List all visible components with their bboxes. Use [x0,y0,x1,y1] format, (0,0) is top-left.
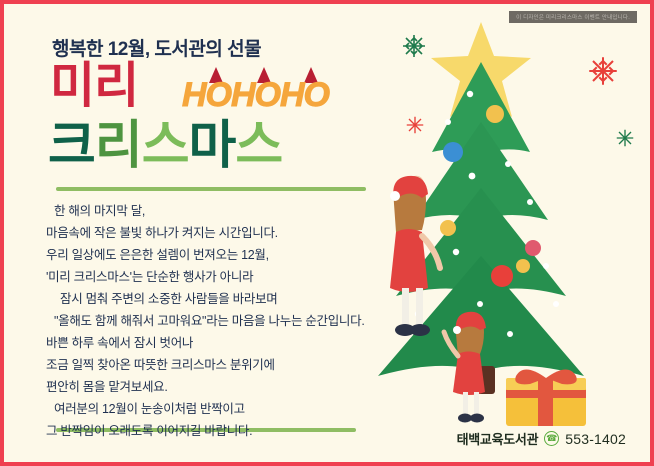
footer-contact: 태백교육도서관 ☎ 553-1402 [457,429,626,448]
snowflake-icon [588,56,618,86]
divider-top [56,187,366,191]
body-line: 여러분의 12월이 눈송이처럼 반짝이고 [46,398,446,420]
body-line: 편안히 몸을 맡겨보세요. [46,376,446,398]
poster-body: 이 디자인은 미리크리스마스 이벤트 안내입니다. [4,4,650,462]
body-line: "올해도 함께 해줘서 고마워요"라는 마음을 나누는 순간입니다. [46,310,446,332]
library-name: 태백교육도서관 [457,429,539,448]
phone-icon: ☎ [544,431,559,446]
body-line: 잠시 멈춰 주변의 소중한 사람들을 바라보며 [46,288,446,310]
title-char: 스 [142,117,189,175]
body-line: 조금 일찍 찾아온 따뜻한 크리스마스 분위기에 [46,354,446,376]
title-char: 크 [48,117,95,175]
gift-box [506,369,586,426]
body-copy: 한 해의 마지막 달, 마음속에 작은 불빛 하나가 켜지는 시간입니다. 우리… [46,200,446,442]
body-line: 우리 일상에도 은은한 설렘이 번져오는 12월, [46,244,446,266]
poster-frame: 이 디자인은 미리크리스마스 이벤트 안내입니다. [0,0,654,466]
body-line: 바쁜 하루 속에서 잠시 벗어나 [46,332,446,354]
body-line: 마음속에 작은 불빛 하나가 켜지는 시간입니다. [46,222,446,244]
snowflake-icon [406,116,424,134]
body-line: '미리 크리스마스'는 단순한 행사가 아니라 [46,266,446,288]
snowflake-icon [616,129,634,147]
title-char: 리 [95,117,142,175]
body-line: 한 해의 마지막 달, [46,200,446,222]
phone-number: 553-1402 [565,431,626,447]
poster-subtitle: 행복한 12월, 도서관의 선물 [52,34,261,61]
snowflake-icon [402,34,426,58]
title-char: 스 [235,117,282,175]
poster-title-green: 크리스마스 [48,120,282,172]
body-line: 그 반짝임이 오래도록 이어지길 바랍니다. [46,420,446,442]
title-char: 마 [189,117,236,175]
poster-title-red: 미리 [50,62,138,111]
hohoho-text: HOHOHO [182,76,329,115]
